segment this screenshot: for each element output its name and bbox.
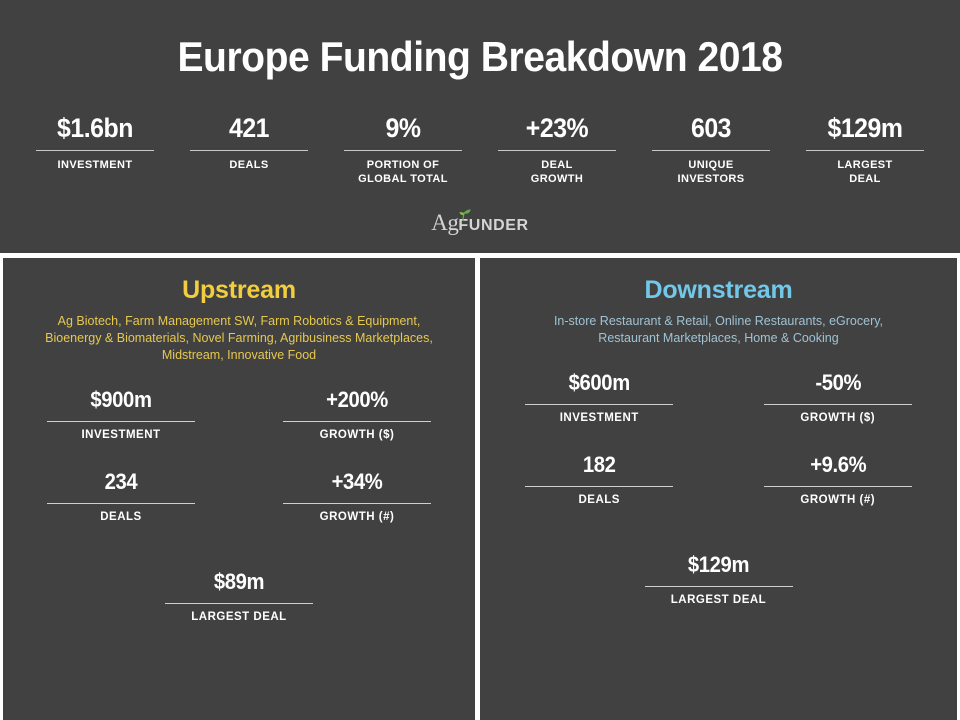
agfunder-logo: AgFUNDER (0, 212, 960, 242)
stat-label: DEALGROWTH (480, 158, 634, 186)
stat-label: UNIQUEINVESTORS (634, 158, 788, 186)
stat-value: 9% (332, 112, 474, 145)
infographic-slide: Europe Funding Breakdown 2018 $1.6bn INV… (0, 0, 960, 720)
stat-grid-downstream: $600m INVESTMENT -50% GROWTH ($) 182 DEA… (480, 369, 957, 606)
header-section: Europe Funding Breakdown 2018 $1.6bn INV… (0, 0, 960, 253)
stat-label: DEALS (172, 158, 326, 172)
panel-description-upstream: Ag Biotech, Farm Management SW, Farm Rob… (44, 313, 434, 364)
stat-label: INVESTMENT (18, 158, 172, 172)
top-stat-largest-deal: $129m LARGESTDEAL (788, 112, 942, 186)
stat-label: PORTION OFGLOBAL TOTAL (326, 158, 480, 186)
top-stat-portion-of-global-total: 9% PORTION OFGLOBAL TOTAL (326, 112, 480, 186)
leaf-sprout-icon (455, 209, 471, 222)
top-stat-deals: 421 DEALS (172, 112, 326, 186)
stat-label: INVESTMENT (3, 429, 239, 441)
stat-value: +23% (486, 112, 628, 145)
stat-value: +34% (248, 468, 465, 495)
stat-value: $900m (12, 386, 229, 413)
grid-spacer (3, 550, 475, 568)
stat-rule (806, 150, 924, 151)
stat-value: $89m (22, 568, 456, 595)
panel-title-downstream: Downstream (480, 276, 957, 305)
stat-upstream-largest-deal: $89m LARGEST DEAL (3, 568, 475, 623)
stat-label: LARGEST DEAL (3, 611, 475, 623)
stat-rule (764, 486, 912, 487)
top-stat-deal-growth: +23% DEALGROWTH (480, 112, 634, 186)
stat-label: GROWTH (#) (239, 511, 475, 523)
stat-downstream-growth-dollar: -50% GROWTH ($) (719, 369, 958, 424)
stat-rule (525, 404, 673, 405)
panel-description-downstream: In-store Restaurant & Retail, Online Res… (524, 313, 914, 347)
stat-label: GROWTH (#) (719, 494, 958, 506)
stat-upstream-investment: $900m INVESTMENT (3, 386, 239, 441)
stat-grid-upstream: $900m INVESTMENT +200% GROWTH ($) 234 DE… (3, 386, 475, 623)
stat-rule (47, 503, 195, 504)
stat-downstream-investment: $600m INVESTMENT (480, 369, 719, 424)
stat-rule (525, 486, 673, 487)
stat-value: $600m (490, 369, 709, 396)
stat-value: -50% (728, 369, 947, 396)
stat-upstream-growth-dollar: +200% GROWTH ($) (239, 386, 475, 441)
stat-label: DEALS (480, 494, 719, 506)
stat-upstream-growth-count: +34% GROWTH (#) (239, 468, 475, 523)
stat-rule (645, 586, 793, 587)
panel-downstream: Downstream In-store Restaurant & Retail,… (480, 258, 957, 720)
panel-upstream: Upstream Ag Biotech, Farm Management SW,… (3, 258, 475, 720)
stat-rule (165, 603, 313, 604)
top-stat-investment: $1.6bn INVESTMENT (18, 112, 172, 186)
top-stat-unique-investors: 603 UNIQUEINVESTORS (634, 112, 788, 186)
stat-value: 182 (490, 451, 709, 478)
stat-downstream-growth-count: +9.6% GROWTH (#) (719, 451, 958, 506)
stat-rule (652, 150, 770, 151)
stat-label: GROWTH ($) (719, 412, 958, 424)
stat-rule (283, 421, 431, 422)
stat-value: +9.6% (728, 451, 947, 478)
stat-rule (764, 404, 912, 405)
stat-rule (190, 150, 308, 151)
stat-rule (283, 503, 431, 504)
top-stats-row: $1.6bn INVESTMENT 421 DEALS 9% PORTION O… (18, 112, 942, 186)
stat-rule (498, 150, 616, 151)
stat-value: 421 (178, 112, 320, 145)
stat-value: $129m (499, 551, 938, 578)
stat-rule (47, 421, 195, 422)
stat-label: GROWTH ($) (239, 429, 475, 441)
stat-label: LARGEST DEAL (480, 594, 957, 606)
stat-label: INVESTMENT (480, 412, 719, 424)
stat-rule (36, 150, 154, 151)
stat-value: $129m (794, 112, 936, 145)
stat-downstream-largest-deal: $129m LARGEST DEAL (480, 551, 957, 606)
stat-label: DEALS (3, 511, 239, 523)
stat-value: 234 (12, 468, 229, 495)
page-title: Europe Funding Breakdown 2018 (34, 33, 927, 81)
stat-value: $1.6bn (24, 112, 166, 145)
stat-value: +200% (248, 386, 465, 413)
stat-label: LARGESTDEAL (788, 158, 942, 186)
stat-downstream-deals: 182 DEALS (480, 451, 719, 506)
stat-rule (344, 150, 462, 151)
stat-value: 603 (640, 112, 782, 145)
grid-spacer (480, 533, 957, 551)
stat-upstream-deals: 234 DEALS (3, 468, 239, 523)
panel-title-upstream: Upstream (3, 276, 475, 305)
